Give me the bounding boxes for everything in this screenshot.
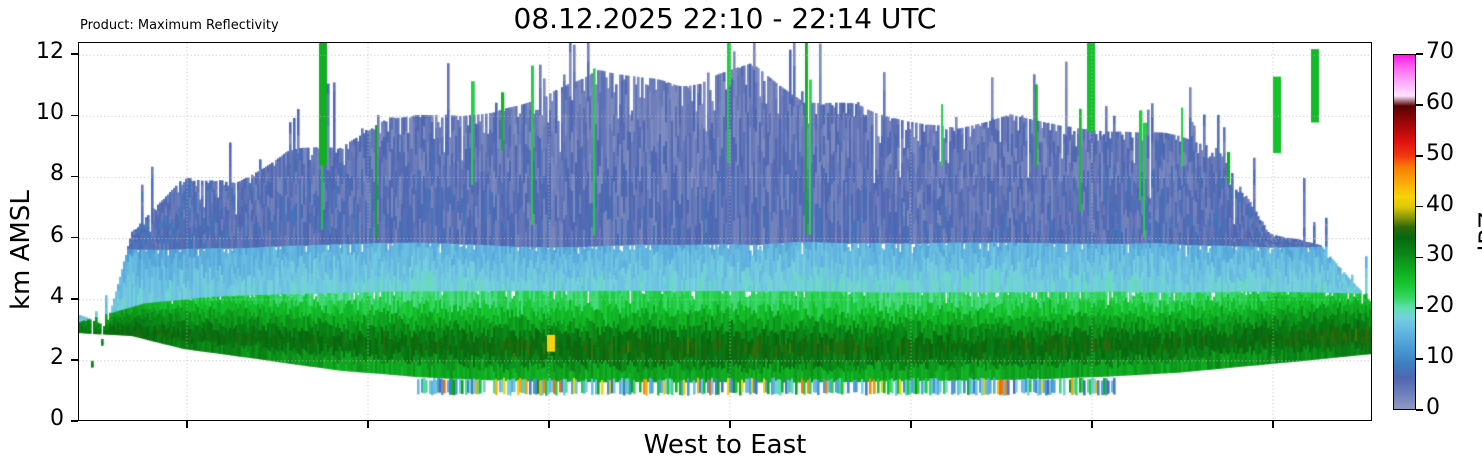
y-axis-tick-mark [71,420,78,422]
colorbar-tick-mark [1416,307,1423,309]
colorbar-tick-mark [1416,409,1423,411]
colorbar-tick-mark [1416,358,1423,360]
radar-cross-section-figure: 08.12.2025 22:10 - 22:14 UTC Product: Ma… [0,0,1482,470]
y-axis-tick-mark [71,176,78,178]
radar-reflectivity-heatmap [79,43,1372,421]
colorbar-label: dBZ [1474,212,1482,260]
plot-area [78,42,1372,421]
y-axis-tick-mark [71,359,78,361]
colorbar-tick-mark [1416,206,1423,208]
y-axis-tick-label: 0 [18,406,64,431]
colorbar [1393,54,1416,410]
colorbar-tick-mark [1416,53,1423,55]
y-axis-tick-label: 2 [18,345,64,370]
colorbar-tick-mark [1416,104,1423,106]
y-axis-tick-label: 8 [18,161,64,186]
x-axis-tick-mark [910,421,912,428]
product-annotation: Product: Maximum Reflectivity [80,18,279,33]
y-axis-tick-label: 10 [18,100,64,125]
colorbar-tick-label: 20 [1426,293,1454,318]
y-axis-tick-mark [71,298,78,300]
colorbar-tick-label: 0 [1426,395,1440,420]
colorbar-tick-label: 30 [1426,242,1454,267]
colorbar-gradient [1393,54,1416,410]
colorbar-tick-label: 40 [1426,192,1454,217]
x-axis-tick-mark [1272,421,1274,428]
y-axis-tick-mark [71,53,78,55]
y-axis-tick-label: 12 [18,39,64,64]
x-axis-tick-mark [1091,421,1093,428]
colorbar-tick-label: 10 [1426,344,1454,369]
y-axis-label: km AMSL [6,190,36,310]
x-axis-label: West to East [78,430,1372,460]
colorbar-tick-mark [1416,257,1423,259]
y-axis-tick-mark [71,237,78,239]
colorbar-tick-label: 50 [1426,141,1454,166]
colorbar-tick-mark [1416,155,1423,157]
x-axis-tick-mark [186,421,188,428]
x-axis-tick-mark [367,421,369,428]
x-axis-tick-mark [548,421,550,428]
y-axis-tick-mark [71,115,78,117]
colorbar-tick-label: 60 [1426,90,1454,115]
x-axis-tick-mark [729,421,731,428]
colorbar-tick-label: 70 [1426,39,1454,64]
